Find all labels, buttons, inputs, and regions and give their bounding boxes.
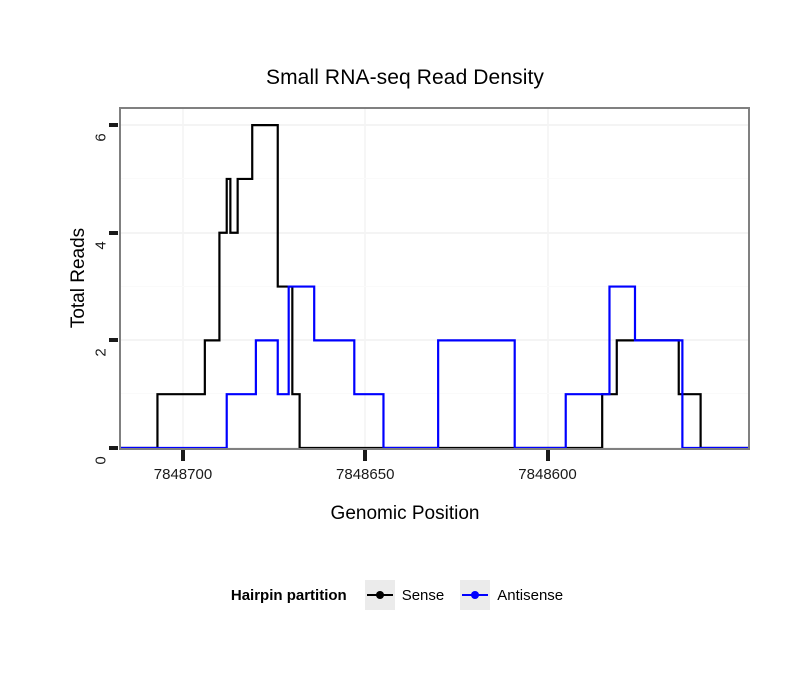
x-tick-label: 7848700 <box>123 466 243 483</box>
legend-label: Sense <box>402 587 445 604</box>
y-axis-label: Total Reads <box>68 198 90 358</box>
legend-items: SenseAntisense <box>365 580 579 610</box>
legend-point-glyph <box>376 591 384 599</box>
data-series-layer <box>121 109 748 448</box>
legend: Hairpin partition SenseAntisense <box>0 580 810 610</box>
x-axis-label: Genomic Position <box>0 503 810 525</box>
x-tick-label: 7848600 <box>488 466 608 483</box>
plot-area <box>121 109 748 448</box>
legend-item[interactable]: Sense <box>365 580 445 610</box>
legend-label: Antisense <box>497 587 563 604</box>
y-tick-label: 6 <box>93 125 110 151</box>
x-tick-label: 7848650 <box>305 466 425 483</box>
y-tick-mark <box>109 446 118 450</box>
plot-panel <box>119 107 750 450</box>
legend-key-swatch <box>365 580 395 610</box>
legend-point-glyph <box>471 591 479 599</box>
y-tick-label: 0 <box>93 448 110 474</box>
y-tick-mark <box>109 123 118 127</box>
y-tick-label: 4 <box>93 232 110 258</box>
y-tick-label: 2 <box>93 340 110 366</box>
x-tick-mark <box>546 450 550 461</box>
series-line-sense <box>121 125 748 448</box>
x-tick-mark <box>181 450 185 461</box>
y-tick-mark <box>109 231 118 235</box>
legend-item[interactable]: Antisense <box>460 580 563 610</box>
chart-title: Small RNA-seq Read Density <box>0 66 810 90</box>
y-tick-mark <box>109 338 118 342</box>
legend-title: Hairpin partition <box>231 587 347 604</box>
series-line-antisense <box>121 287 748 448</box>
chart-root: Small RNA-seq Read Density Total Reads 0… <box>0 0 810 690</box>
x-tick-mark <box>363 450 367 461</box>
legend-key-swatch <box>460 580 490 610</box>
